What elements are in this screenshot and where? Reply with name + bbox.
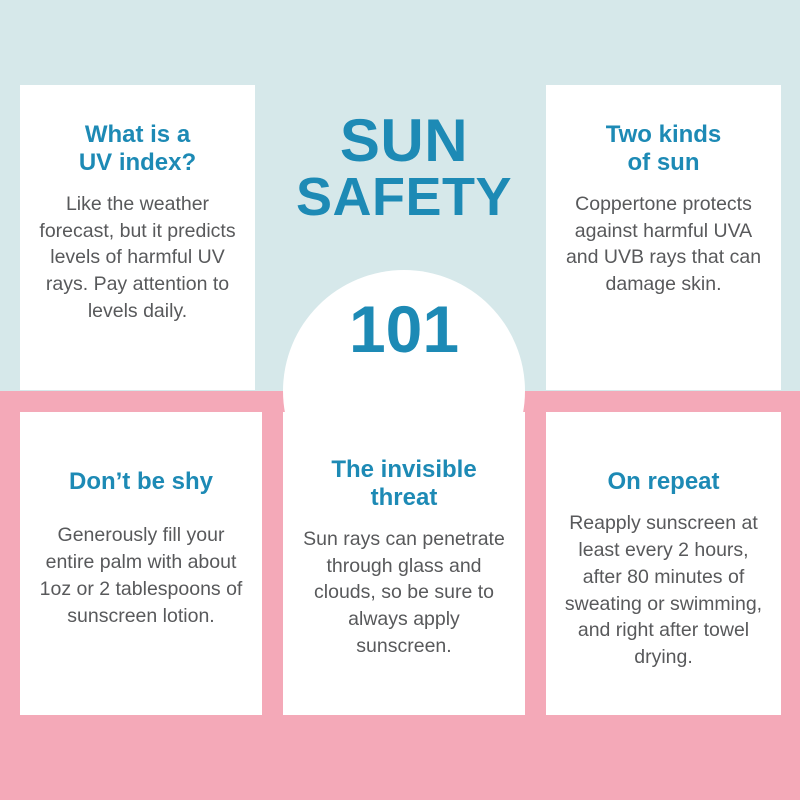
card-uv-index-title-line2: UV index?	[79, 149, 196, 176]
card-two-kinds-of-sun: Two kinds of sun Coppertone protects aga…	[546, 85, 781, 390]
card-uv-index-title: What is a UV index?	[79, 121, 196, 177]
card-invisible-threat-title-line1: The invisible	[331, 456, 476, 483]
card-uv-index-body: Like the weather forecast, but it predic…	[36, 191, 239, 326]
card-invisible-threat-title-line2: threat	[371, 484, 438, 511]
main-title-line1: SUN	[265, 112, 543, 171]
card-invisible-threat-body: Sun rays can penetrate through glass and…	[299, 526, 509, 661]
card-two-kinds-title-line2: of sun	[628, 149, 700, 176]
card-dont-be-shy-title: Don’t be shy	[69, 468, 213, 496]
card-dont-be-shy: Don’t be shy Generously fill your entire…	[20, 412, 262, 715]
main-title-line2: SAFETY	[265, 171, 543, 224]
card-two-kinds-title-line1: Two kinds	[606, 121, 722, 148]
card-uv-index: What is a UV index? Like the weather for…	[20, 85, 255, 390]
main-title-number: 101	[283, 296, 525, 362]
card-two-kinds-of-sun-body: Coppertone protects against harmful UVA …	[562, 191, 765, 299]
card-invisible-threat-title: The invisible threat	[331, 456, 476, 512]
main-title: SUN SAFETY	[265, 112, 543, 224]
card-invisible-threat: The invisible threat Sun rays can penetr…	[283, 412, 525, 715]
card-on-repeat: On repeat Reapply sunscreen at least eve…	[546, 412, 781, 715]
card-uv-index-title-line1: What is a	[85, 121, 190, 148]
card-on-repeat-title: On repeat	[607, 468, 719, 496]
sun-safety-infographic: SUN SAFETY 101 What is a UV index? Like …	[0, 0, 800, 800]
card-on-repeat-body: Reapply sunscreen at least every 2 hours…	[562, 510, 765, 671]
card-dont-be-shy-body: Generously fill your entire palm with ab…	[36, 522, 246, 630]
card-two-kinds-of-sun-title: Two kinds of sun	[606, 121, 722, 177]
